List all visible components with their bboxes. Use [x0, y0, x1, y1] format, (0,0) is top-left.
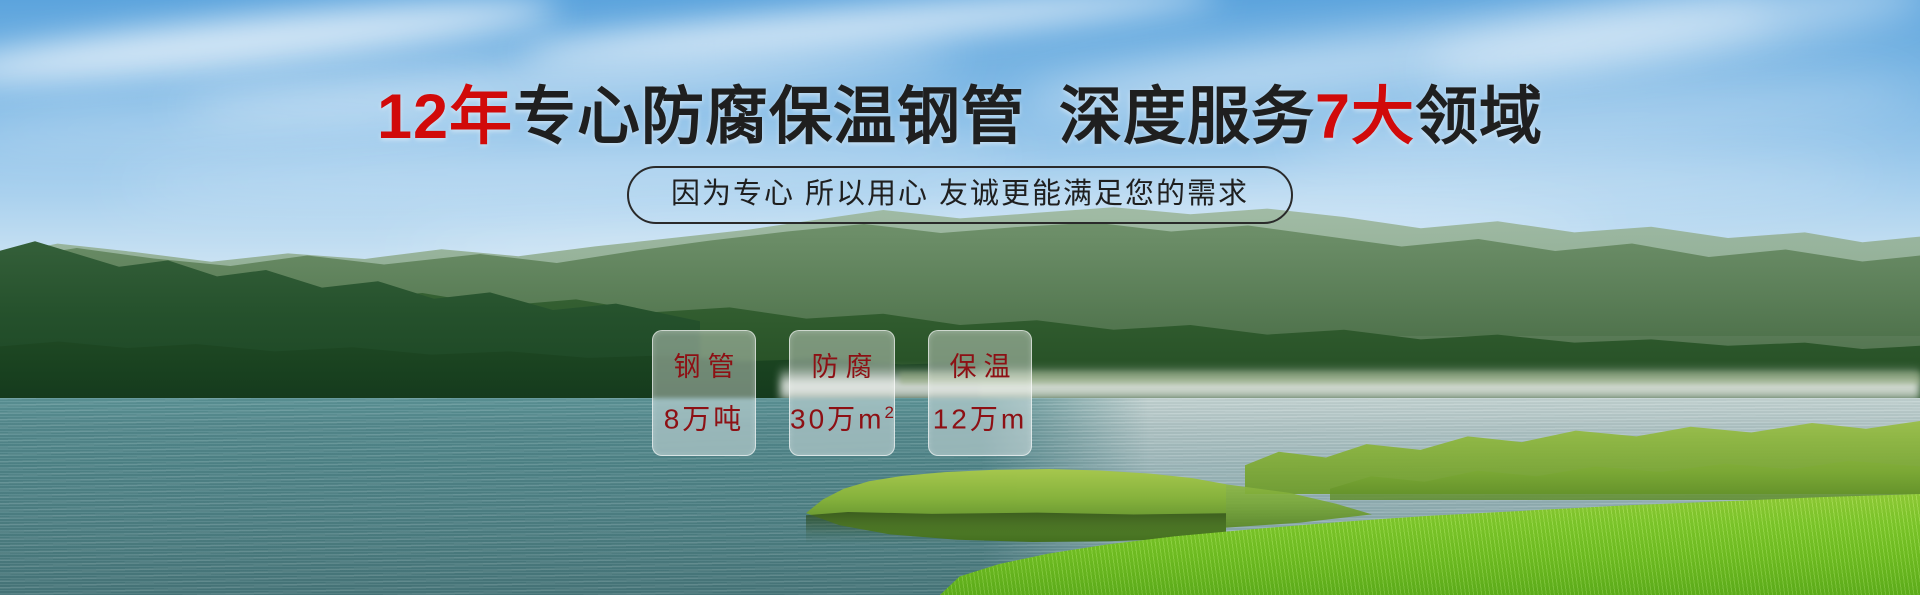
stat-card-group: 钢管 8万吨 防腐 30万m2 保温 12万m — [652, 330, 1032, 456]
stat-card-value: 30万m2 — [790, 398, 894, 434]
stat-card-anticorrosion[interactable]: 防腐 30万m2 — [789, 330, 895, 456]
stat-value-text: 12万m — [933, 403, 1027, 434]
banner-subtitle: 因为专心 所以用心 友诚更能满足您的需求 — [627, 166, 1293, 224]
stat-card-value: 8万吨 — [664, 398, 745, 434]
headline-years: 12年 — [377, 82, 513, 152]
headline-fields: 领域 — [1415, 82, 1543, 152]
hero-banner: 12年专心防腐保温钢管深度服务7大领域 因为专心 所以用心 友诚更能满足您的需求… — [0, 0, 1920, 595]
stat-card-title: 钢管 — [667, 352, 742, 382]
stat-card-title: 防腐 — [804, 352, 879, 382]
stat-card-insulation[interactable]: 保温 12万m — [928, 330, 1032, 456]
headline-service: 深度服务 — [1059, 82, 1315, 152]
stat-card-value: 12万m — [933, 398, 1027, 434]
far-shoreline — [900, 372, 1920, 384]
banner-subtitle-wrap: 因为专心 所以用心 友诚更能满足您的需求 — [0, 166, 1920, 224]
stat-value-sup: 2 — [885, 403, 894, 422]
headline-fields-count: 7大 — [1315, 82, 1415, 152]
stat-value-text: 8万吨 — [664, 403, 745, 434]
stat-card-steel-pipe[interactable]: 钢管 8万吨 — [652, 330, 756, 456]
stat-value-text: 30万m — [790, 403, 884, 434]
banner-headline: 12年专心防腐保温钢管深度服务7大领域 — [0, 84, 1920, 150]
stat-card-title: 保温 — [942, 352, 1017, 382]
headline-main: 专心防腐保温钢管 — [513, 82, 1025, 152]
